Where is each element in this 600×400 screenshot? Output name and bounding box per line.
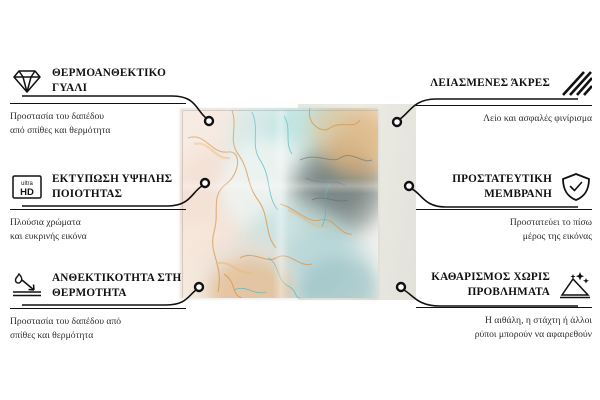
feature-header: ΠΡΟΣΤΑΤΕΥΤΙΚΗ ΜΕΜΒΡΑΝΗ bbox=[416, 170, 592, 204]
feature-description: Πλούσια χρώματακαι ευκρινής εικόνα bbox=[10, 216, 186, 243]
feature-header: ΚΑΘΑΡΙΣΜΟΣ ΧΩΡΙΣ ΠΡΟΒΛΗΜΑΤΑ bbox=[416, 268, 592, 302]
feature-polished-edges: ΛΕΙΑΣΜΕΝΕΣ ΆΚΡΕΣ Λείο και ασφαλές φινίρι… bbox=[416, 66, 592, 126]
feature-header: ΑΝΘΕΚΤΙΚΟΤΗΤΑ ΣΤΗ ΘΕΡΜΟΤΗΤΑ bbox=[10, 269, 186, 303]
product-feature-infographic: ΘΕΡΜΟΑΝΘΕΚΤΙΚΟ ΓΥΑΛΙ Προστασία του δαπέδ… bbox=[0, 0, 600, 400]
feature-header: ΛΕΙΑΣΜΕΝΕΣ ΆΚΡΕΣ bbox=[416, 66, 592, 100]
feature-title: ΠΡΟΣΤΑΤΕΥΤΙΚΗ ΜΕΜΒΡΑΝΗ bbox=[416, 172, 552, 202]
product-glass-panel bbox=[180, 108, 378, 298]
ultra-hd-icon: ultra HD bbox=[10, 173, 44, 201]
diamond-icon bbox=[10, 67, 44, 95]
feature-divider bbox=[416, 307, 592, 308]
feature-title: ΕΚΤΥΠΩΣΗ ΥΨΗΛΗΣ ΠΟΙΟΤΗΤΑΣ bbox=[52, 172, 186, 202]
feature-protective-membrane: ΠΡΟΣΤΑΤΕΥΤΙΚΗ ΜΕΜΒΡΑΝΗ Προστατεύει το πί… bbox=[416, 170, 592, 243]
feature-header: ultra HD ΕΚΤΥΠΩΣΗ ΥΨΗΛΗΣ ΠΟΙΟΤΗΤΑΣ bbox=[10, 170, 186, 204]
svg-text:HD: HD bbox=[20, 187, 34, 198]
feature-divider bbox=[416, 209, 592, 210]
feature-title: ΘΕΡΜΟΑΝΘΕΚΤΙΚΟ ΓΥΑΛΙ bbox=[52, 66, 186, 96]
feature-header: ΘΕΡΜΟΑΝΘΕΚΤΙΚΟ ΓΥΑΛΙ bbox=[10, 64, 186, 98]
feature-divider bbox=[10, 103, 186, 104]
feature-divider bbox=[10, 308, 186, 309]
feature-description: Προστατεύει το πίσωμέρος της εικόνας bbox=[416, 216, 592, 243]
feature-title: ΛΕΙΑΣΜΕΝΕΣ ΆΚΡΕΣ bbox=[430, 76, 550, 91]
feature-description: Προστασία του δαπέδου απόσπίθες και θερμ… bbox=[10, 315, 186, 342]
ink-veins bbox=[180, 108, 378, 298]
feature-divider bbox=[10, 209, 186, 210]
flame-arrow-icon bbox=[10, 271, 44, 301]
diagonal-stripes-icon bbox=[558, 69, 592, 97]
feature-heat-resistant-glass: ΘΕΡΜΟΑΝΘΕΚΤΙΚΟ ΓΥΑΛΙ Προστασία του δαπέδ… bbox=[10, 64, 186, 137]
feature-description: Λείο και ασφαλές φινίρισμα bbox=[416, 112, 592, 126]
feature-title: ΑΝΘΕΚΤΙΚΟΤΗΤΑ ΣΤΗ ΘΕΡΜΟΤΗΤΑ bbox=[52, 271, 186, 301]
feature-high-quality-print: ultra HD ΕΚΤΥΠΩΣΗ ΥΨΗΛΗΣ ΠΟΙΟΤΗΤΑΣ Πλούσ… bbox=[10, 170, 186, 243]
shield-check-icon bbox=[560, 172, 592, 202]
sparkle-clean-icon bbox=[558, 269, 592, 301]
feature-title: ΚΑΘΑΡΙΣΜΟΣ ΧΩΡΙΣ ΠΡΟΒΛΗΜΑΤΑ bbox=[416, 270, 550, 300]
feature-description: Η αιθάλη, η στάχτη ή άλλοιρύποι μπορούν … bbox=[416, 314, 592, 341]
product-image-stage bbox=[178, 106, 418, 302]
feature-easy-cleaning: ΚΑΘΑΡΙΣΜΟΣ ΧΩΡΙΣ ΠΡΟΒΛΗΜΑΤΑ Η αιθάλη, η … bbox=[416, 268, 592, 341]
feature-description: Προστασία του δαπέδουαπό σπίθες και θερμ… bbox=[10, 110, 186, 137]
feature-heat-durability: ΑΝΘΕΚΤΙΚΟΤΗΤΑ ΣΤΗ ΘΕΡΜΟΤΗΤΑ Προστασία το… bbox=[10, 269, 186, 342]
feature-divider bbox=[416, 105, 592, 106]
